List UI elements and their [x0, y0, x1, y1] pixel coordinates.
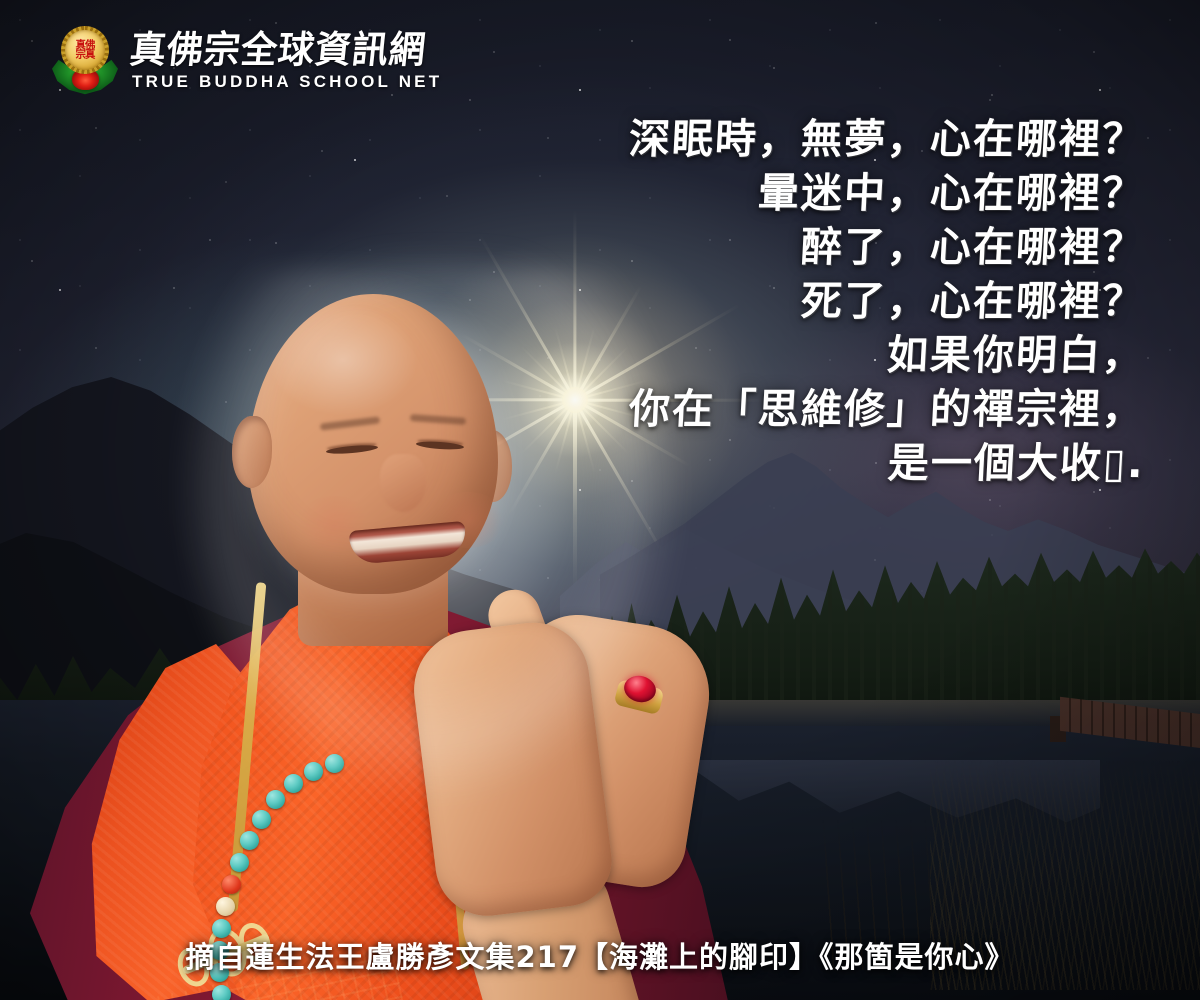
true-buddha-school-emblem-icon: 真佛宗真 [52, 24, 118, 98]
logo-wordmark: 真佛宗全球資訊網 TRUE BUDDHA SCHOOL NET [130, 31, 442, 91]
logo-chinese-name: 真佛宗全球資訊網 [128, 30, 445, 72]
logo-english-name: TRUE BUDDHA SCHOOL NET [130, 72, 442, 91]
poem-line-7: 是一個大收▯. [584, 436, 1147, 490]
poem-block: 深眠時，無夢，心在哪裡？ 暈迷中，心在哪裡？ 醉了，心在哪裡？ 死了，心在哪裡？… [585, 112, 1145, 490]
emblem-disc-label: 真佛宗真 [76, 41, 95, 60]
poem-line-6: 你在「思維修」的禪宗裡， [584, 382, 1147, 436]
poem-line-1: 深眠時，無夢，心在哪裡？ [584, 112, 1147, 166]
emblem-gold-disc: 真佛宗真 [65, 30, 105, 70]
poster-canvas: 真佛宗真 真佛宗全球資訊網 TRUE BUDDHA SCHOOL NET 深眠時… [0, 0, 1200, 1000]
source-caption-text: 摘自蓮生法王盧勝彥文集217【海灘上的腳印】《那箇是你心》 [185, 934, 1014, 976]
poem-line-2: 暈迷中，心在哪裡？ [584, 166, 1147, 220]
site-logo[interactable]: 真佛宗真 真佛宗全球資訊網 TRUE BUDDHA SCHOOL NET [52, 24, 442, 98]
poem-line-5: 如果你明白， [584, 328, 1147, 382]
source-caption: 摘自蓮生法王盧勝彥文集217【海灘上的腳印】《那箇是你心》 [0, 934, 1200, 976]
poem-line-4: 死了，心在哪裡？ [584, 274, 1147, 328]
poem-line-3: 醉了，心在哪裡？ [584, 220, 1147, 274]
